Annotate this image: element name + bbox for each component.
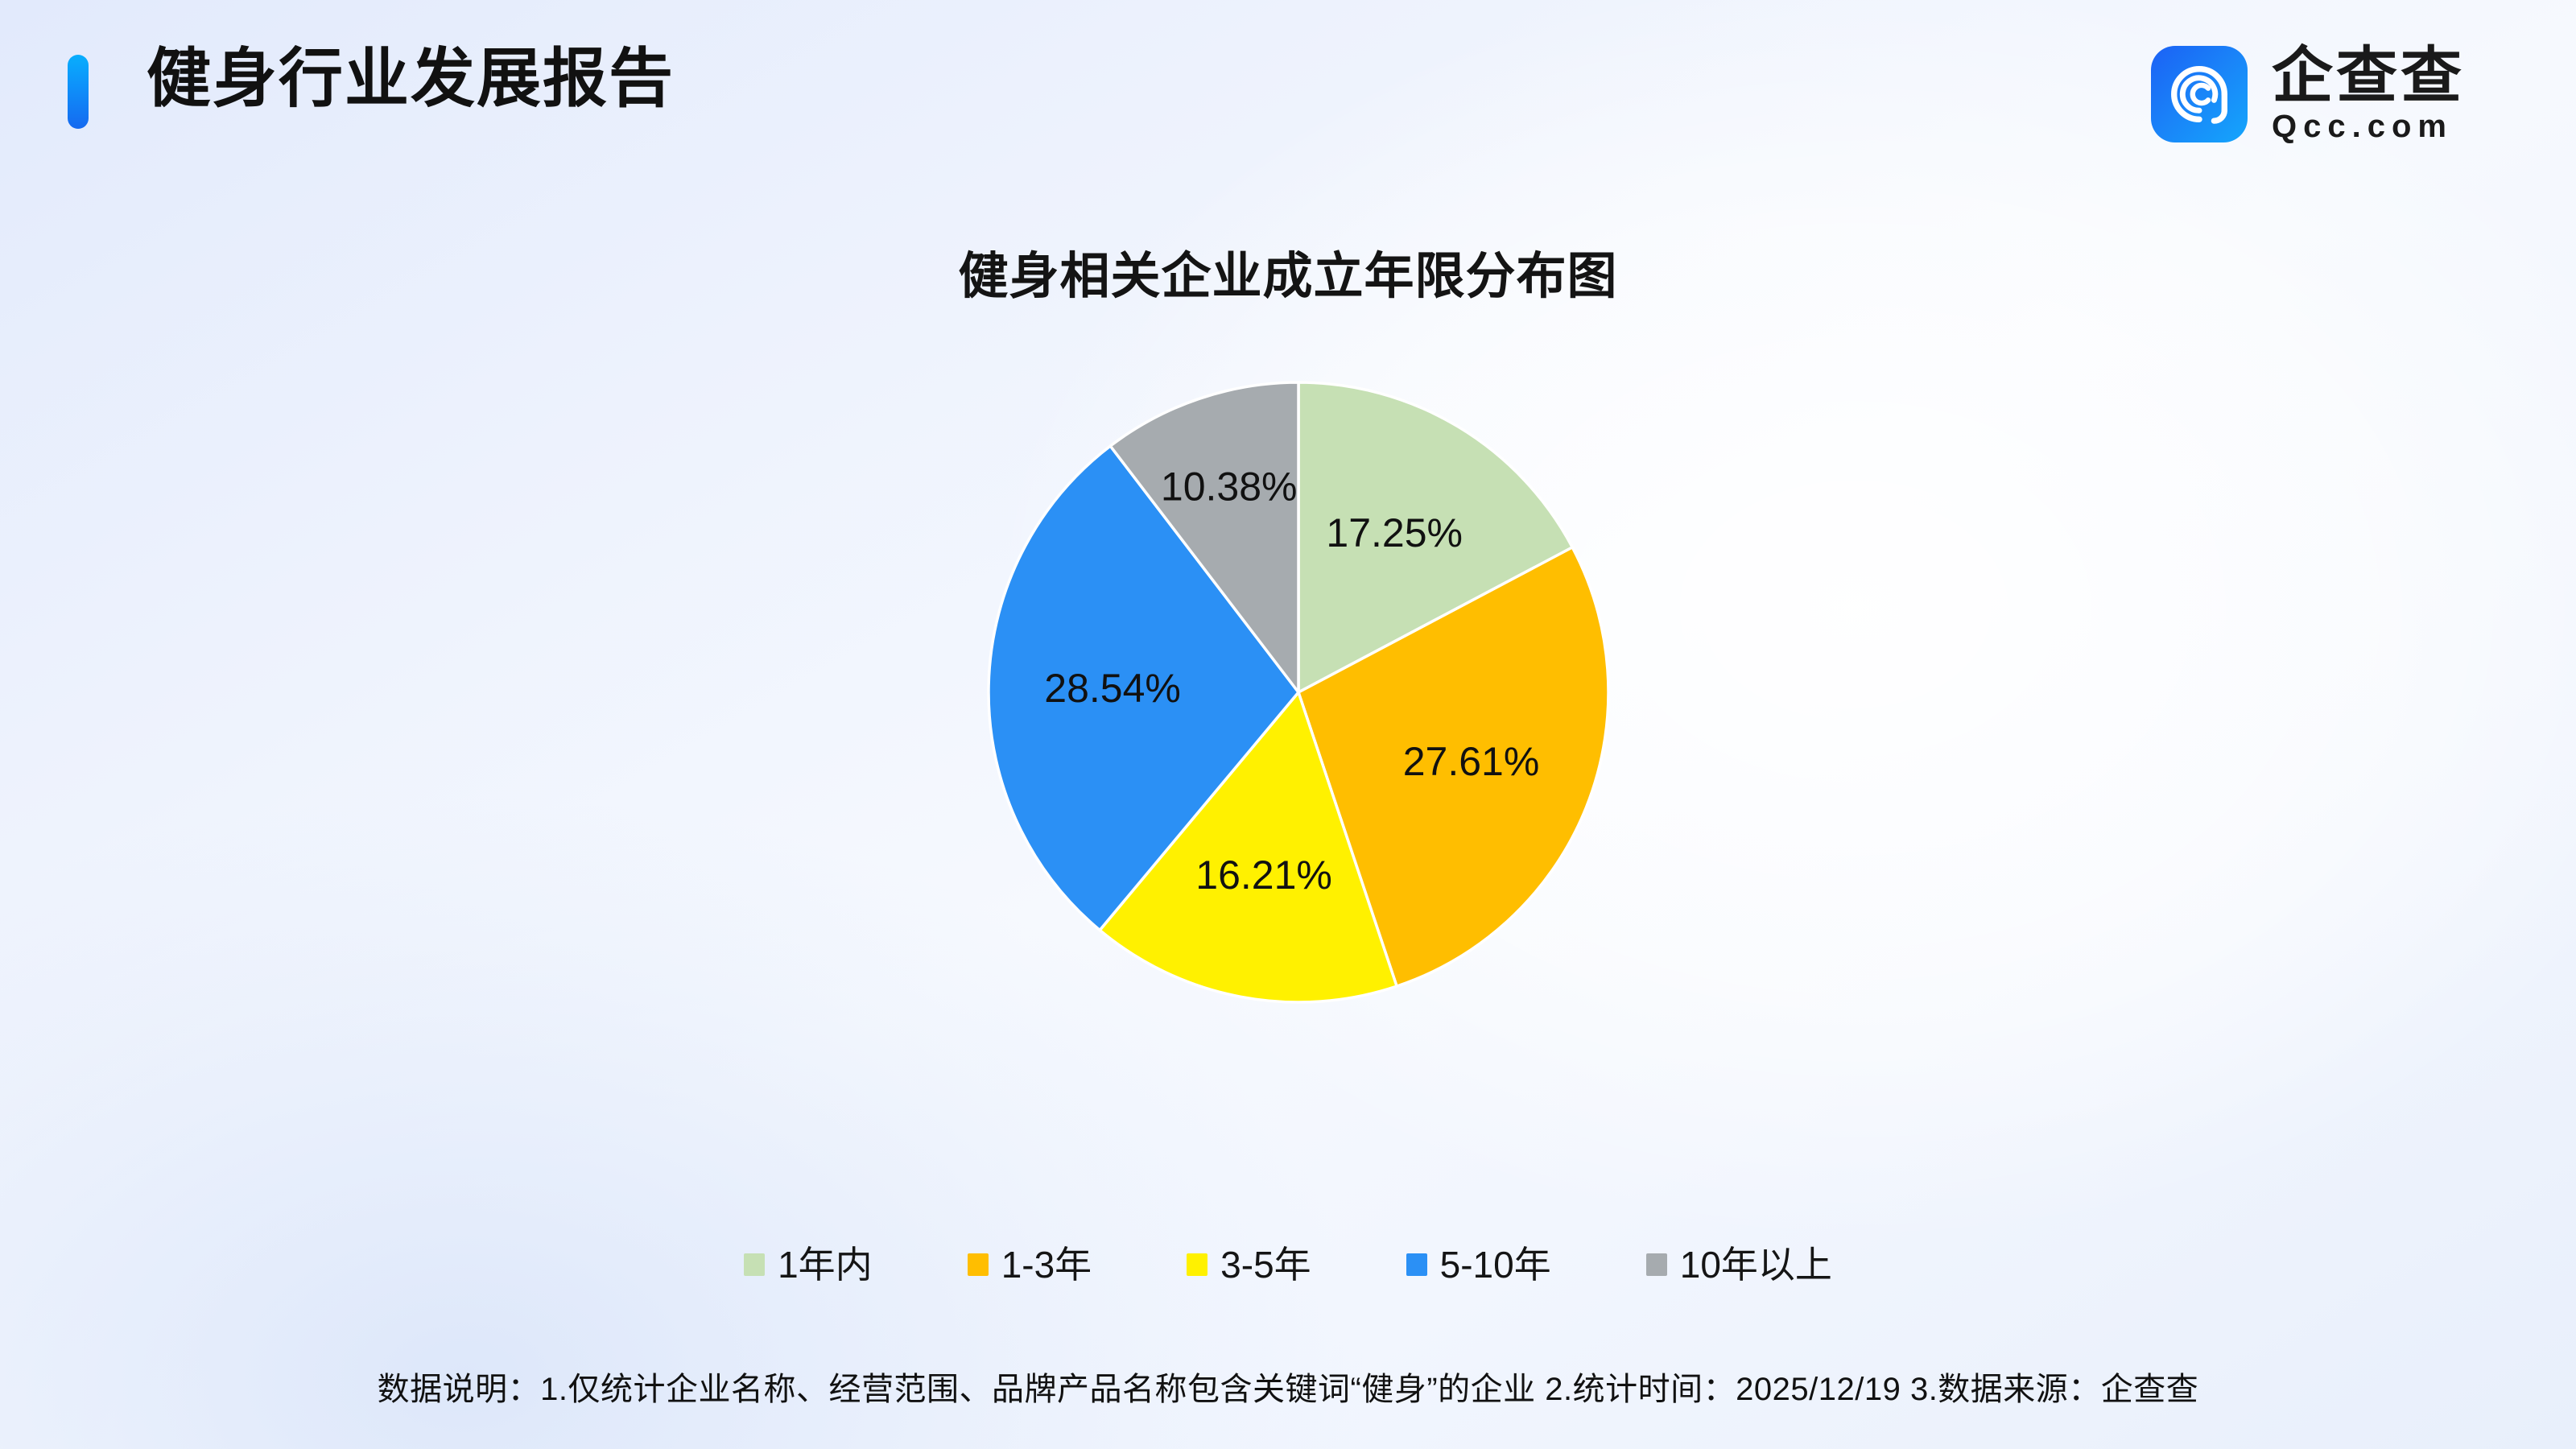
pie-slice-label: 17.25% (1326, 510, 1463, 555)
chart-legend: 1年内1-3年3-5年5-10年10年以上 (0, 1246, 2576, 1283)
legend-item[interactable]: 1年内 (744, 1246, 873, 1283)
page-header: 健身行业发展报告 企查查 Qcc.com (0, 0, 2576, 185)
legend-swatch-icon (968, 1253, 989, 1276)
footer-note: 数据说明：1.仅统计企业名称、经营范围、品牌产品名称包含关键词“健身”的企业 2… (0, 1363, 2576, 1410)
legend-item[interactable]: 5-10年 (1406, 1246, 1551, 1283)
brand-name-en: Qcc.com (2272, 109, 2465, 143)
legend-swatch-icon (1187, 1253, 1207, 1276)
pie-slice-label: 27.61% (1403, 739, 1540, 784)
legend-swatch-icon (1646, 1253, 1667, 1276)
legend-label: 1-3年 (1001, 1246, 1092, 1283)
brand-logo[interactable]: 企查查 Qcc.com (2151, 45, 2465, 143)
brand-wordmark: 企查查 Qcc.com (2272, 45, 2465, 143)
pie-slice-label: 16.21% (1195, 852, 1332, 898)
legend-swatch-icon (744, 1253, 765, 1276)
legend-label: 1年内 (778, 1246, 873, 1283)
brand-name-cn: 企查查 (2272, 45, 2465, 108)
qcc-spiral-logo-icon (2151, 46, 2248, 142)
report-page: 健身行业发展报告 企查查 Qcc.com 健身相关企业成立年限 (0, 0, 2576, 1449)
chart-title: 健身相关企业成立年限分布图 (0, 235, 2576, 308)
legend-label: 10年以上 (1680, 1246, 1832, 1283)
pie-slice-label: 28.54% (1044, 666, 1181, 711)
title-accent-bar-icon (68, 55, 89, 129)
pie-slice-label: 10.38% (1161, 464, 1298, 510)
pie-chart-svg: 17.25%27.61%16.21%28.54%10.38% (980, 374, 1616, 1010)
pie-chart: 17.25%27.61%16.21%28.54%10.38% (980, 374, 1616, 1010)
legend-label: 5-10年 (1440, 1246, 1551, 1283)
legend-item[interactable]: 10年以上 (1646, 1246, 1832, 1283)
legend-item[interactable]: 1-3年 (968, 1246, 1092, 1283)
legend-label: 3-5年 (1220, 1246, 1311, 1283)
legend-item[interactable]: 3-5年 (1187, 1246, 1311, 1283)
legend-swatch-icon (1406, 1253, 1427, 1276)
page-title: 健身行业发展报告 (147, 37, 675, 121)
